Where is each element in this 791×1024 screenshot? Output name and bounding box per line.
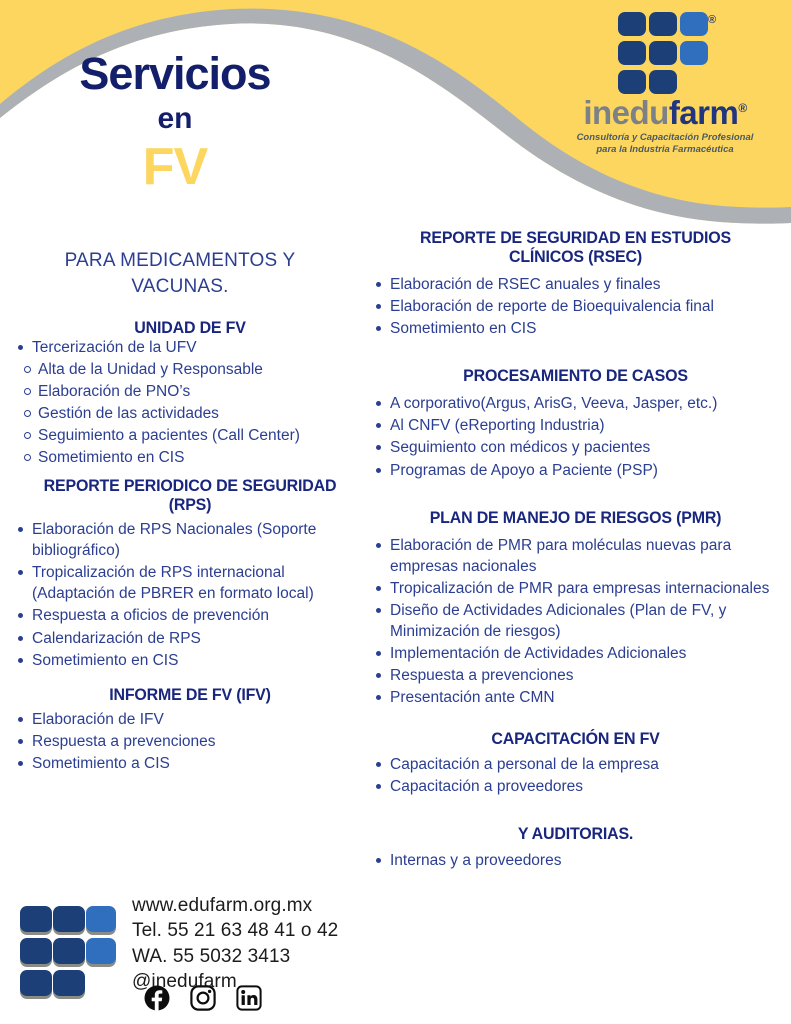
list-item: Respuesta a prevenciones xyxy=(10,731,370,752)
title-line-en: en xyxy=(30,96,320,141)
list-item: Tercerización de la UFV xyxy=(10,337,370,358)
list-item: Alta de la Unidad y Responsable xyxy=(10,359,370,381)
inedufarm-mark-icon xyxy=(618,12,710,94)
list-item: Elaboración de RSEC anuales y finales xyxy=(368,274,783,295)
title-line-servicios: Servicios xyxy=(30,52,320,96)
social-links xyxy=(144,985,262,1011)
registered-mark-icon: ® xyxy=(708,14,716,26)
linkedin-icon[interactable] xyxy=(236,985,262,1011)
list-item: Elaboración de IFV xyxy=(10,709,370,730)
list-item: Programas de Apoyo a Paciente (PSP) xyxy=(368,460,783,481)
footer-website[interactable]: www.edufarm.org.mx xyxy=(132,893,372,918)
section-heading-reporte-periodico-seguridad: REPORTE PERIODICO DE SEGURIDAD (RPS) xyxy=(21,476,359,514)
list-item: Elaboración de RPS Nacionales (Soporte b… xyxy=(10,519,370,561)
list-item: Diseño de Actividades Adicionales (Plan … xyxy=(368,600,783,642)
list-pmr: Elaboración de PMR para moléculas nuevas… xyxy=(368,535,783,709)
section-heading-procesamiento-de-casos: PROCESAMIENTO DE CASOS xyxy=(380,366,770,385)
section-heading-rsec: REPORTE DE SEGURIDAD EN ESTUDIOS CLÍNICO… xyxy=(380,228,770,266)
list-procesamiento-casos: A corporativo(Argus, ArisG, Veeva, Jaspe… xyxy=(368,393,783,480)
list-item: Seguimiento a pacientes (Call Center) xyxy=(10,425,370,447)
list-item: Sometimiento en CIS xyxy=(10,650,370,671)
brand-wordmark: inedufarm® xyxy=(542,96,788,129)
section-heading-unidad-de-fv: UNIDAD DE FV xyxy=(21,318,359,337)
list-item: Calendarización de RPS xyxy=(10,628,370,649)
list-item: Sometimiento a CIS xyxy=(10,753,370,774)
section-heading-pmr: PLAN DE MANEJO DE RIESGOS (PMR) xyxy=(380,508,770,527)
brand-word-farm: farm xyxy=(669,94,739,131)
footer-contact-lines: www.edufarm.org.mx Tel. 55 21 63 48 41 o… xyxy=(132,893,372,994)
list-item: Elaboración de PNO’s xyxy=(10,381,370,403)
sublist-unidad-de-fv: Alta de la Unidad y Responsable Elaborac… xyxy=(10,359,370,469)
list-item: Respuesta a oficios de prevención xyxy=(10,605,370,626)
footer-whatsapp: WA. 55 5032 3413 xyxy=(132,944,372,969)
section-heading-capacitacion-en-fv: CAPACITACIÓN EN FV xyxy=(380,729,770,748)
list-item: Capacitación a personal de la empresa xyxy=(368,754,783,775)
left-column: UNIDAD DE FV Tercerización de la UFV Alt… xyxy=(10,318,370,775)
right-column: REPORTE DE SEGURIDAD EN ESTUDIOS CLÍNICO… xyxy=(368,228,783,872)
brand-word-inedu: inedu xyxy=(583,94,669,131)
list-item: Sometimiento en CIS xyxy=(10,447,370,469)
list-item: Seguimiento con médicos y pacientes xyxy=(368,437,783,458)
list-item: Presentación ante CMN xyxy=(368,687,783,708)
footer-contact-block: www.edufarm.org.mx Tel. 55 21 63 48 41 o… xyxy=(14,893,364,1018)
list-item: Tropicalización de PMR para empresas int… xyxy=(368,578,783,599)
list-item: Implementación de Actividades Adicionale… xyxy=(368,643,783,664)
list-item: Internas y a proveedores xyxy=(368,850,783,871)
poster-subtitle: PARA MEDICAMENTOS Y VACUNAS. xyxy=(20,248,340,299)
brand-tagline-line2: para la Industria Farmacéutica xyxy=(540,144,790,156)
title-line-fv: FV xyxy=(30,141,320,193)
list-capacitacion: Capacitación a personal de la empresa Ca… xyxy=(368,754,783,797)
list-item: Capacitación a proveedores xyxy=(368,776,783,797)
list-ifv: Elaboración de IFV Respuesta a prevencio… xyxy=(10,709,370,774)
list-item: Gestión de las actividades xyxy=(10,403,370,425)
brand-logo: ® inedufarm® Consultoría y Capacitación … xyxy=(540,12,790,167)
list-item: Respuesta a prevenciones xyxy=(368,665,783,686)
inedufarm-footer-mark-icon xyxy=(20,903,116,999)
list-unidad-de-fv: Tercerización de la UFV xyxy=(10,337,370,358)
list-auditorias: Internas y a proveedores xyxy=(368,850,783,871)
list-item: Elaboración de reporte de Bioequivalenci… xyxy=(368,296,783,317)
poster-title-block: Servicios en FV xyxy=(30,52,320,193)
list-item: Elaboración de PMR para moléculas nuevas… xyxy=(368,535,783,577)
facebook-icon[interactable] xyxy=(144,985,170,1011)
list-item: A corporativo(Argus, ArisG, Veeva, Jaspe… xyxy=(368,393,783,414)
list-item: Tropicalización de RPS internacional (Ad… xyxy=(10,562,370,604)
brand-registered-icon: ® xyxy=(738,101,746,115)
instagram-icon[interactable] xyxy=(190,985,216,1011)
brand-tagline: Consultoría y Capacitación Profesional p… xyxy=(540,132,790,156)
list-item: Al CNFV (eReporting Industria) xyxy=(368,415,783,436)
brand-tagline-line1: Consultoría y Capacitación Profesional xyxy=(540,132,790,144)
list-item: Sometimiento en CIS xyxy=(368,318,783,339)
section-heading-informe-de-fv: INFORME DE FV (IFV) xyxy=(21,685,359,704)
list-rsec: Elaboración de RSEC anuales y finales El… xyxy=(368,274,783,339)
list-rps: Elaboración de RPS Nacionales (Soporte b… xyxy=(10,519,370,671)
footer-phone: Tel. 55 21 63 48 41 o 42 xyxy=(132,918,372,943)
section-heading-y-auditorias: Y AUDITORIAS. xyxy=(380,824,770,843)
poster-page: Servicios en FV ® inedufarm® Consultoría… xyxy=(0,0,791,1024)
